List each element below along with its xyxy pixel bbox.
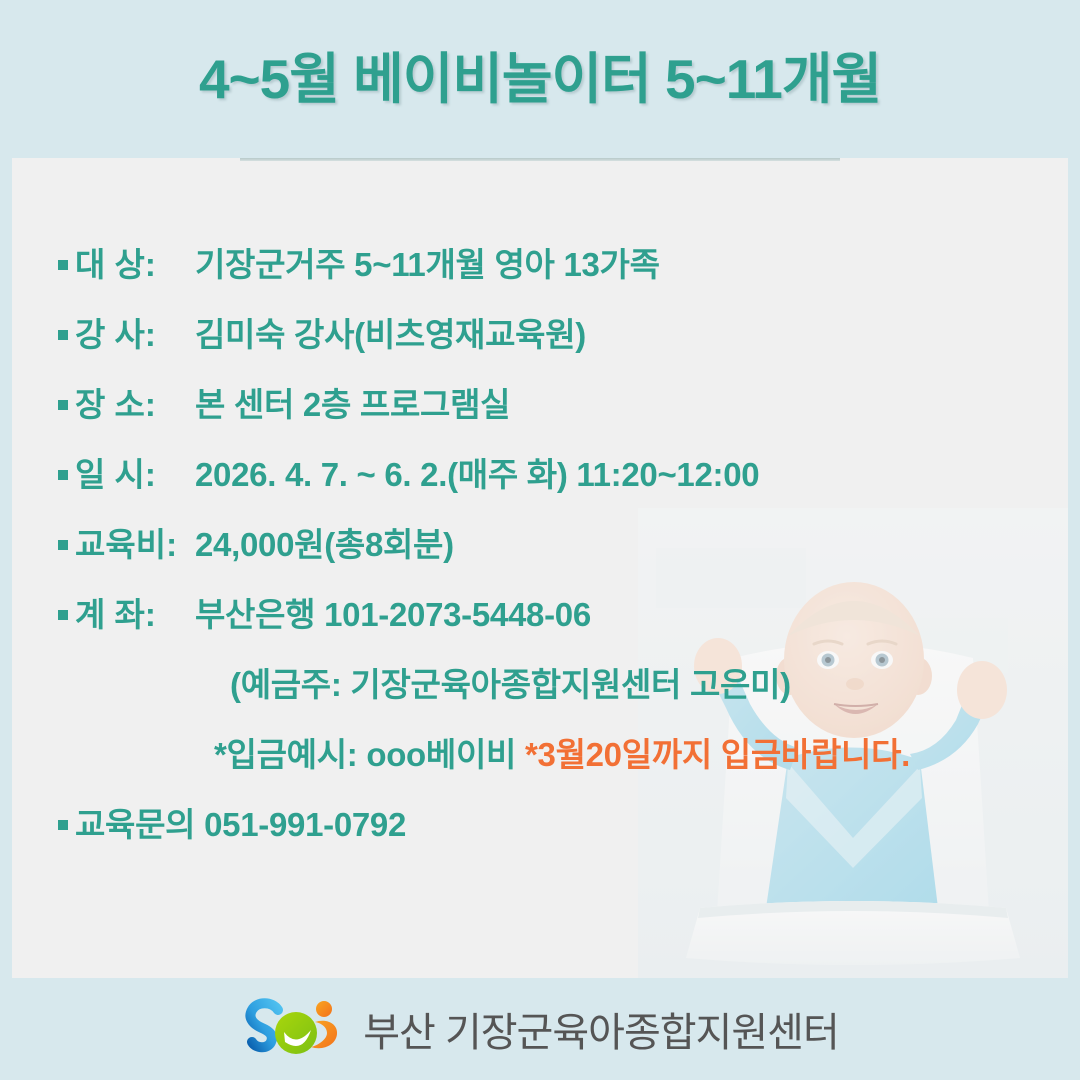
info-label: 교육비: — [75, 518, 195, 566]
info-label: 강 사: — [75, 308, 195, 356]
info-value: 부산은행 101-2073-5448-06 — [195, 588, 591, 636]
page-title: 4~5월 베이비놀이터 5~11개월 — [199, 34, 881, 114]
spacer — [516, 736, 525, 774]
info-label: 일 시: — [75, 448, 195, 496]
info-value: 본 센터 2층 프로그램실 — [195, 378, 510, 426]
info-value: 24,000원(총8회분) — [195, 518, 454, 566]
info-label: 계 좌: — [75, 588, 195, 636]
deposit-example-text: *입금예시: ooo베이비 — [214, 728, 516, 776]
sc-logo-icon — [241, 998, 347, 1060]
square-bullet-icon — [58, 540, 68, 550]
account-holder-line: (예금주: 기장군육아종합지원센터 고은미) — [58, 658, 1058, 728]
organization-name: 부산 기장군육아종합지원센터 — [363, 1000, 839, 1058]
footer: 부산 기장군육아종합지원센터 — [0, 978, 1080, 1080]
account-holder-text: (예금주: 기장군육아종합지원센터 고은미) — [230, 658, 791, 706]
info-value: 김미숙 강사(비츠영재교육원) — [195, 308, 586, 356]
poster-canvas: 4~5월 베이비놀이터 5~11개월 — [0, 0, 1080, 1080]
info-list: 대 상: 기장군거주 5~11개월 영아 13가족 강 사: 김미숙 강사(비츠… — [58, 238, 1058, 868]
deposit-note-line: *입금예시: ooo베이비 *3월20일까지 입금바랍니다. — [58, 728, 1058, 798]
info-label: 대 상: — [75, 238, 195, 286]
inquiry-line: 교육문의 051-991-0792 — [58, 798, 1058, 868]
list-item: 강 사: 김미숙 강사(비츠영재교육원) — [58, 308, 1058, 378]
title-bar: 4~5월 베이비놀이터 5~11개월 — [0, 0, 1080, 148]
info-value: 기장군거주 5~11개월 영아 13가족 — [195, 238, 660, 286]
info-value: 2026. 4. 7. ~ 6. 2.(매주 화) 11:20~12:00 — [195, 448, 759, 496]
square-bullet-icon — [58, 470, 68, 480]
panel-divider — [240, 158, 840, 161]
list-item: 교육비: 24,000원(총8회분) — [58, 518, 1058, 588]
info-label: 장 소: — [75, 378, 195, 426]
list-item: 일 시: 2026. 4. 7. ~ 6. 2.(매주 화) 11:20~12:… — [58, 448, 1058, 518]
inquiry-label: 교육문의 — [75, 798, 195, 846]
content-panel: 대 상: 기장군거주 5~11개월 영아 13가족 강 사: 김미숙 강사(비츠… — [12, 158, 1068, 978]
deposit-deadline-text: *3월20일까지 입금바랍니다. — [525, 728, 910, 776]
list-item: 계 좌: 부산은행 101-2073-5448-06 — [58, 588, 1058, 658]
square-bullet-icon — [58, 820, 68, 830]
inquiry-phone: 051-991-0792 — [204, 806, 406, 844]
square-bullet-icon — [58, 400, 68, 410]
spacer — [195, 806, 204, 844]
square-bullet-icon — [58, 610, 68, 620]
list-item: 대 상: 기장군거주 5~11개월 영아 13가족 — [58, 238, 1058, 308]
square-bullet-icon — [58, 260, 68, 270]
list-item: 장 소: 본 센터 2층 프로그램실 — [58, 378, 1058, 448]
square-bullet-icon — [58, 330, 68, 340]
